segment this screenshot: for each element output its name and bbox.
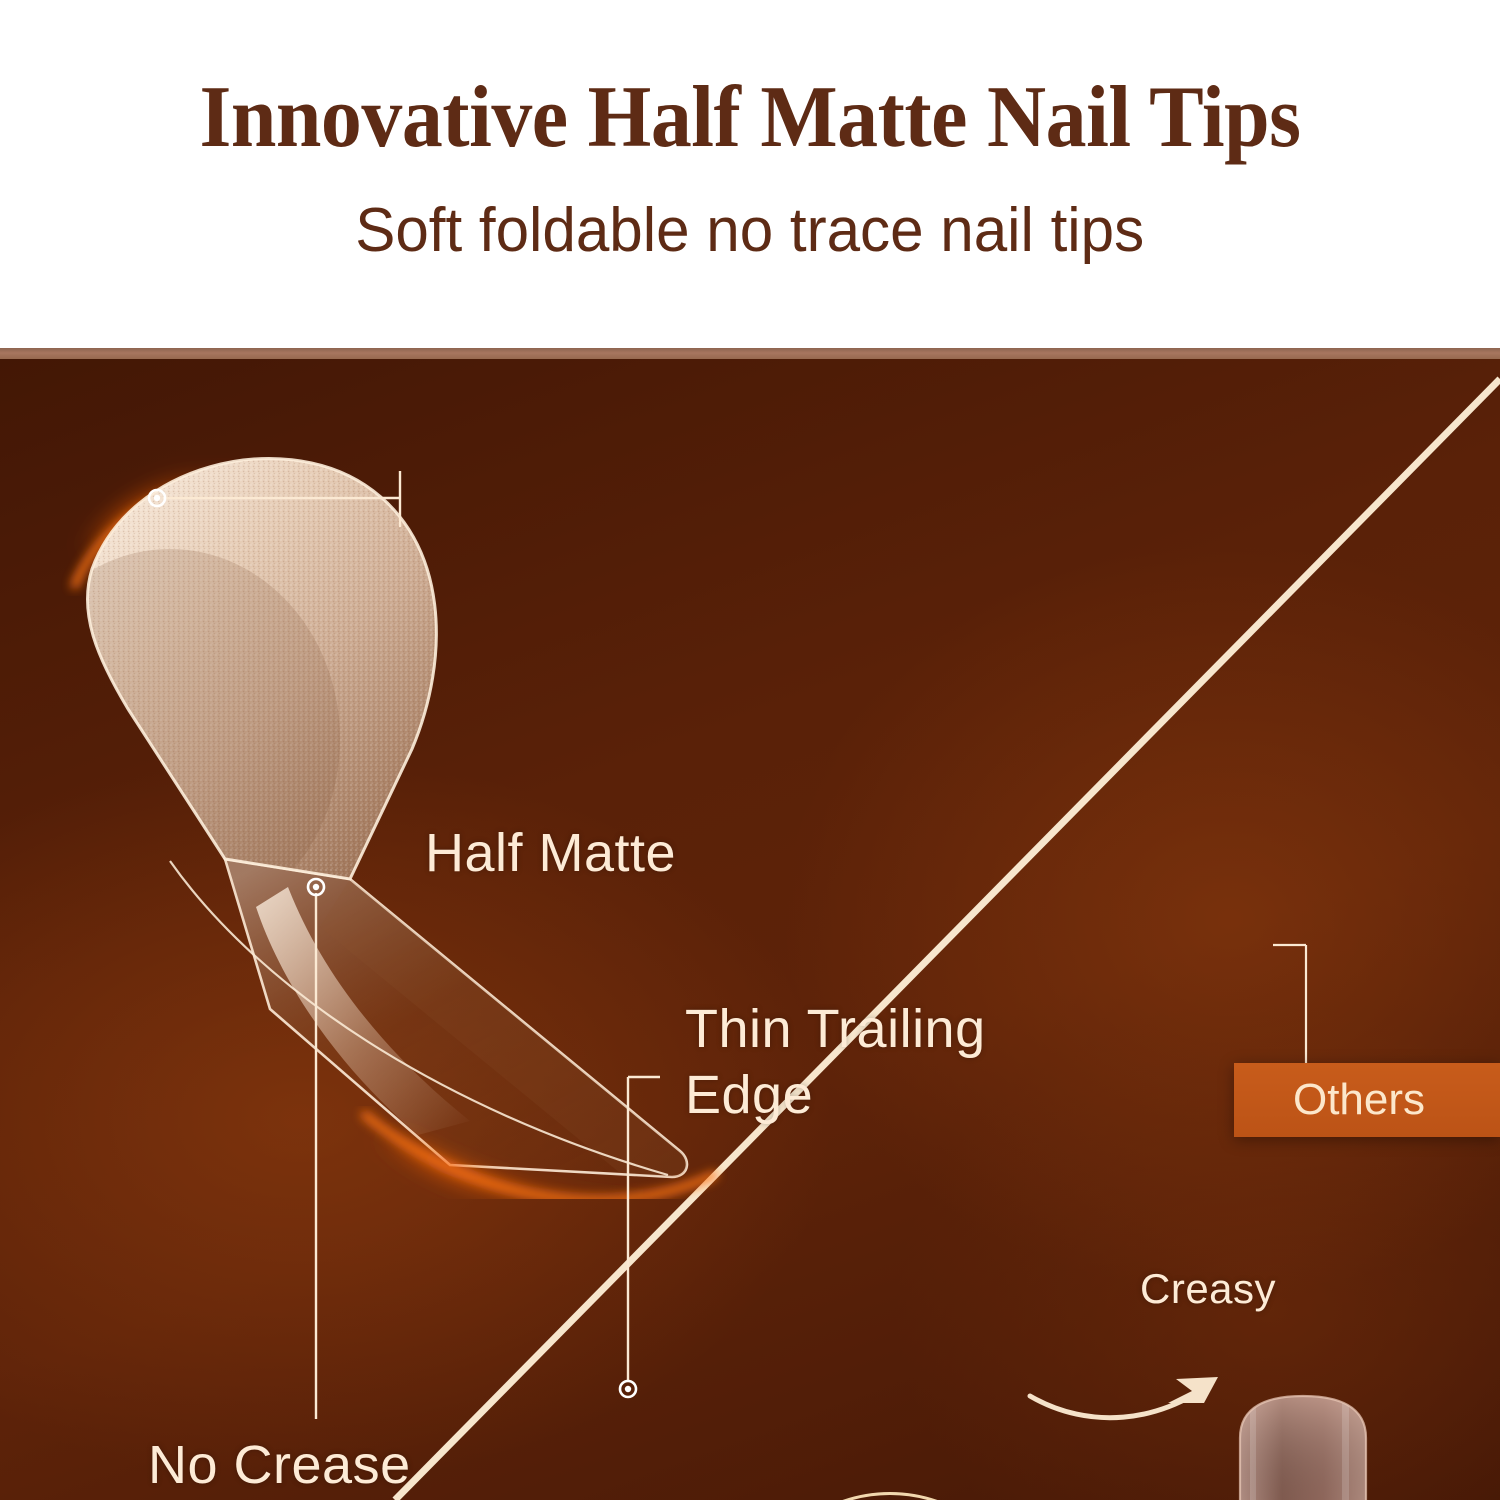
ringed-dot-icon	[308, 879, 324, 895]
header-banner: Innovative Half Matte Nail Tips Soft fol…	[0, 0, 1500, 348]
badge-others: Others	[1234, 1063, 1500, 1137]
left-callout-leaders	[0, 359, 1500, 1500]
ringed-dot-icon	[620, 1381, 636, 1397]
comparison-panel: Half Matte Thin Trailing Edge No Crease	[0, 359, 1500, 1500]
ringed-dot-icon	[149, 490, 165, 506]
right-callout-leaders	[0, 359, 1500, 1500]
infographic-root: Innovative Half Matte Nail Tips Soft fol…	[0, 0, 1500, 1500]
page-title: Innovative Half Matte Nail Tips	[199, 74, 1300, 162]
callout-label-no-crease: No Crease	[148, 1437, 411, 1494]
header-separator-bar	[0, 348, 1500, 359]
inset-outer-ring	[745, 1492, 1035, 1500]
callout-label-creasy: Creasy	[1140, 1267, 1276, 1311]
bend-demo-inset	[745, 1492, 1035, 1500]
after-bend-curved-arrow-icon	[0, 359, 1500, 1500]
callout-label-half-matte: Half Matte	[425, 825, 676, 882]
callout-label-thin-trailing-edge: Thin Trailing Edge	[685, 997, 986, 1129]
diagonal-divider-icon	[0, 359, 1500, 1500]
modelones-nail-tip-illustration	[20, 409, 740, 1199]
others-nail-tip-photo	[1216, 1392, 1390, 1500]
page-subtitle: Soft foldable no trace nail tips	[355, 200, 1144, 262]
